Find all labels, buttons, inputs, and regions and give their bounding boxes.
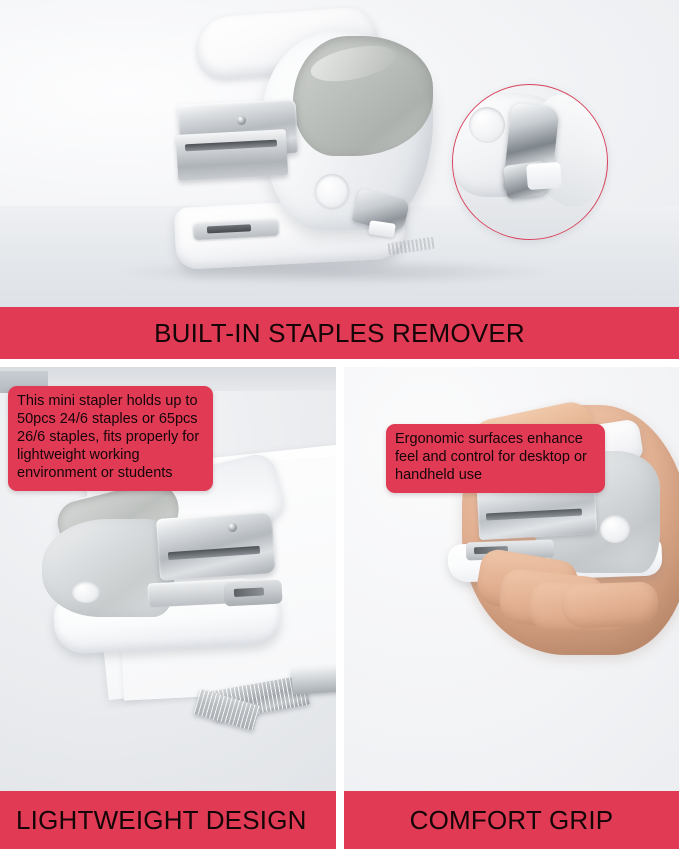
stapler-side-button (315, 174, 349, 208)
panel-divider-vertical (336, 367, 344, 791)
staple-strip (291, 665, 336, 695)
callout-ergonomic-surfaces: Ergonomic surfaces enhance feel and cont… (386, 424, 605, 493)
stapler-hero-image (175, 6, 460, 286)
stapler-base-plate (223, 579, 282, 606)
inset-white-tip (526, 162, 562, 190)
caption-text-top: BUILT-IN STAPLES REMOVER (154, 318, 525, 349)
caption-banner-built-in-staples-remover: BUILT-IN STAPLES REMOVER (0, 307, 679, 359)
caption-text-bottom-left: LIGHTWEIGHT DESIGN (16, 805, 307, 836)
caption-banner-comfort-grip: COMFORT GRIP (344, 791, 679, 849)
panel-divider-horizontal (0, 359, 679, 367)
stapler-magazine-lower (176, 129, 288, 181)
stapler-pivot-pin (228, 523, 237, 532)
hand-finger-little (561, 581, 658, 628)
stapler-lightweight-image (28, 477, 308, 667)
panel-built-in-staples-remover (0, 0, 679, 307)
inset-side-button (469, 107, 505, 143)
stapler-side-button (72, 581, 100, 603)
stapler-side-button (600, 515, 630, 543)
banner-divider (336, 791, 344, 849)
callout-lightweight-capacity: This mini stapler holds up to 50pcs 24/6… (8, 386, 213, 491)
product-feature-collage: BUILT-IN STAPLES REMOVER (0, 0, 679, 849)
caption-banner-lightweight-design: LIGHTWEIGHT DESIGN (0, 791, 336, 849)
magnifier-inset-circle (452, 84, 608, 240)
stapler-pivot-pin (237, 116, 246, 125)
caption-text-bottom-right: COMFORT GRIP (410, 805, 614, 836)
